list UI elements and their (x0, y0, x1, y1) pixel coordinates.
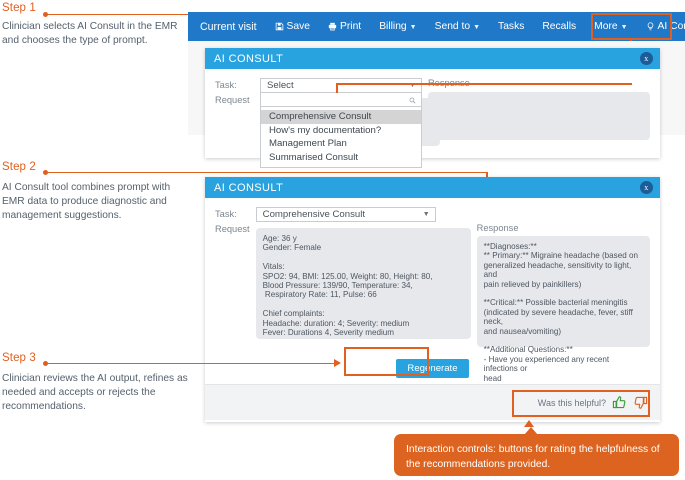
panel1-title: AI CONSULT (214, 53, 283, 65)
step-3-title: Step 3 (2, 352, 36, 364)
nav-save-label: Save (287, 21, 310, 32)
request-field-text: Age: 36 y Gender: Female Vitals: SPO2: 9… (256, 228, 471, 343)
search-icon (409, 91, 416, 109)
response-field-step1 (428, 92, 650, 140)
nav-recalls-label: Recalls (542, 21, 576, 32)
step-2-body: AI Consult tool combines prompt with EMR… (2, 181, 188, 223)
step-2-connector-horizontal (47, 172, 487, 174)
task-option-management-plan[interactable]: Management Plan (261, 137, 421, 151)
task-select-value-step2: Comprehensive Consult (263, 209, 365, 220)
nav-print-label: Print (340, 21, 361, 32)
nav-send-to[interactable]: Send to ▼ (426, 21, 489, 32)
task-select-step2[interactable]: Comprehensive Consult ▼ (256, 207, 436, 222)
nav-tasks[interactable]: Tasks (489, 21, 533, 32)
step-1-body: Clinician selects AI Consult in the EMR … (2, 20, 188, 48)
task-select-value: Select (267, 80, 294, 91)
nav-current-visit-label: Current visit (200, 21, 257, 33)
panel2-title: AI CONSULT (214, 182, 283, 194)
panel1-request-label: Request (215, 95, 254, 105)
callout-text: Interaction controls: buttons for rating… (406, 444, 660, 470)
task-option-comprehensive-consult[interactable]: Comprehensive Consult (261, 110, 421, 124)
ai-consult-panel-step1: AI CONSULT x Task: Request Select ▼ (205, 48, 660, 158)
nav-billing-label: Billing (379, 21, 406, 32)
nav-save[interactable]: Save (266, 21, 319, 32)
task-option-hows-my-documentation[interactable]: How's my documentation? (261, 124, 421, 138)
chevron-down-icon: ▼ (473, 24, 480, 31)
nav-send-to-label: Send to (435, 21, 471, 32)
nav-billing[interactable]: Billing ▼ (370, 21, 425, 32)
chevron-down-icon: ▼ (423, 211, 430, 218)
highlight-feedback (512, 390, 650, 417)
save-icon (275, 22, 284, 31)
panel1-header: AI CONSULT x (205, 48, 660, 69)
close-icon[interactable]: x (640, 181, 653, 194)
step-2-title: Step 2 (2, 161, 36, 173)
task-dropdown-search[interactable] (260, 93, 422, 107)
task-select-step1[interactable]: Select ▼ (260, 78, 422, 93)
callout-box: Interaction controls: buttons for rating… (394, 434, 679, 476)
nav-print[interactable]: Print (319, 21, 370, 32)
highlight-ai-consult (591, 13, 672, 40)
nav-recalls[interactable]: Recalls (533, 21, 585, 32)
print-icon (328, 22, 337, 31)
ai-consult-panel-step2: AI CONSULT x Task: Request Comprehensive… (205, 177, 660, 422)
task-option-list: Comprehensive Consult How's my documenta… (260, 107, 422, 168)
task-option-summarised-consult[interactable]: Summarised Consult (261, 151, 421, 165)
chevron-down-icon: ▼ (410, 24, 417, 31)
panel2-task-label: Task: (215, 209, 250, 219)
panel2-response-label: Response (477, 223, 650, 233)
task-dropdown-step1[interactable]: Comprehensive Consult How's my documenta… (260, 93, 422, 168)
step-3-connector-horizontal (47, 363, 334, 365)
step-1-arrow-line-horizontal (336, 83, 632, 85)
panel2-request-label: Request (215, 224, 250, 234)
panel2-header: AI CONSULT x (205, 177, 660, 198)
step-1-title: Step 1 (2, 2, 36, 14)
close-icon[interactable]: x (640, 52, 653, 65)
request-field-step2[interactable]: Age: 36 y Gender: Female Vitals: SPO2: 9… (256, 228, 471, 339)
callout-pointer-arrow (524, 420, 534, 427)
response-field-step2: **Diagnoses:** ** Primary:** Migraine he… (477, 236, 650, 347)
step-3-body: Clinician reviews the AI output, refines… (2, 372, 188, 414)
response-field-text: **Diagnoses:** ** Primary:** Migraine he… (477, 236, 650, 389)
step-3-arrowhead (334, 359, 341, 367)
infographic-canvas: Step 1 Clinician selects AI Consult in t… (0, 0, 685, 480)
nav-tasks-label: Tasks (498, 21, 524, 32)
panel1-task-label: Task: (215, 80, 254, 90)
nav-current-visit[interactable]: Current visit (198, 21, 266, 33)
highlight-regenerate (344, 347, 429, 376)
